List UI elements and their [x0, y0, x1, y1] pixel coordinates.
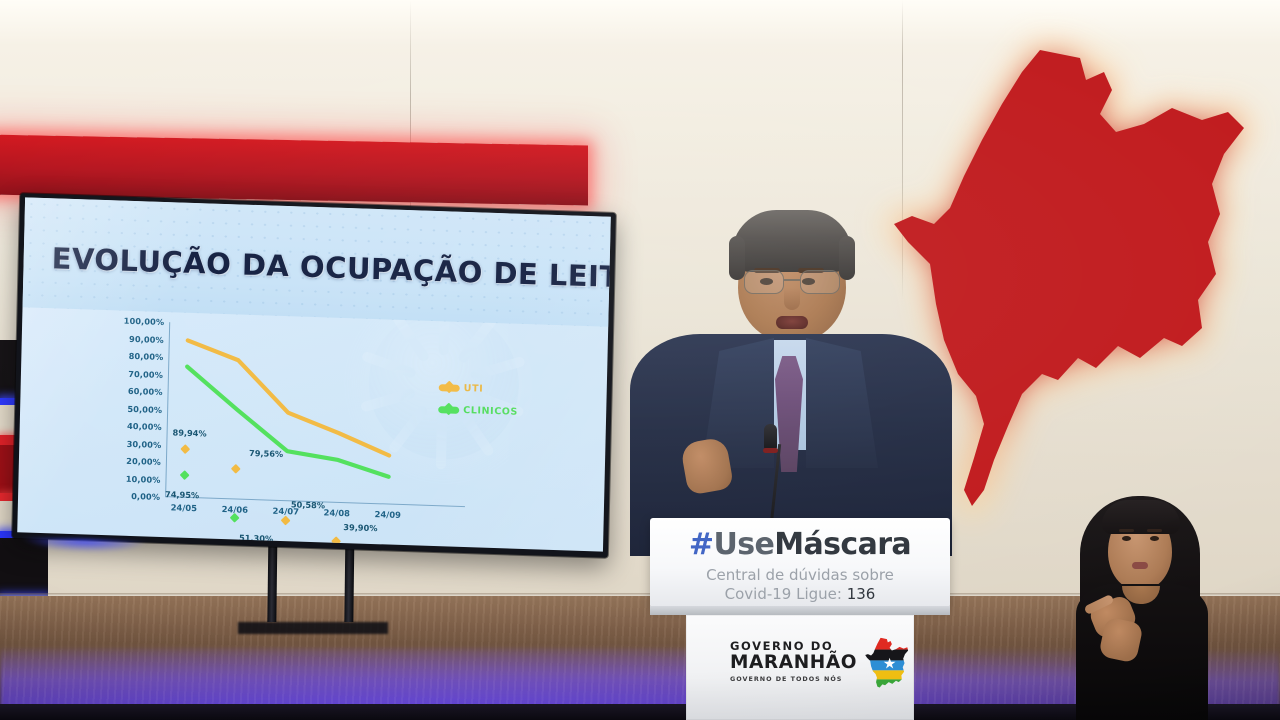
y-tick-label: 30,00%: [127, 438, 162, 449]
government-logo-text: GOVERNO DO MARANHÃO GOVERNO DE TODOS NÓS: [730, 641, 857, 683]
hashtag-word-use: Use: [713, 527, 774, 562]
logo-line-tagline: GOVERNO DE TODOS NÓS: [730, 675, 857, 683]
interpreter-hair-fringe: [1102, 500, 1180, 534]
podium-phone-number: 136: [847, 585, 876, 603]
podium-body: GOVERNO DO MARANHÃO GOVERNO DE TODOS NÓS: [686, 615, 914, 720]
podium-edge: [650, 606, 950, 615]
speaker-mouth: [776, 316, 808, 329]
glasses-lens: [800, 270, 840, 294]
legend-item-uti: UTI: [439, 382, 519, 396]
podium-hashtag: #UseMáscara: [650, 527, 950, 562]
series-line-clinicos: [185, 367, 391, 477]
tv-stand-base: [238, 622, 388, 634]
speaker-hair: [732, 210, 852, 272]
data-point-label: 79,56%: [249, 448, 283, 459]
y-tick-label: 70,00%: [128, 368, 163, 379]
occupancy-line-chart: 100,00%90,00%80,00%70,00%60,00%50,00%40,…: [17, 305, 608, 551]
legend-item-clinicos: CLINICOS: [438, 404, 518, 418]
logo-line-maranhao: MARANHÃO: [730, 653, 857, 672]
presentation-display: EVOLUÇÃO DA OCUPAÇÃO DE LEITOS 100,00%90…: [12, 193, 616, 558]
interpreter-eyebrow: [1119, 529, 1134, 532]
y-tick-label: 60,00%: [128, 386, 163, 397]
y-tick-label: 80,00%: [129, 351, 164, 362]
interpreter-eye: [1150, 536, 1159, 541]
chart-y-tick-labels: 100,00%90,00%80,00%70,00%60,00%50,00%40,…: [80, 319, 164, 497]
logo-line-governo-do: GOVERNO DO: [730, 641, 857, 653]
interpreter-eye: [1122, 536, 1131, 541]
legend-marker-uti-icon: [439, 384, 460, 392]
y-tick-label: 0,00%: [131, 491, 160, 502]
y-tick-label: 10,00%: [126, 473, 161, 484]
interpreter-eyebrow: [1147, 529, 1162, 532]
podium-subtitle-line2: Covid-19 Ligue: 136: [650, 585, 950, 603]
y-tick-label: 100,00%: [124, 316, 165, 327]
series-line-uti: [185, 340, 391, 455]
x-tick-label: 24/05: [171, 502, 198, 513]
legend-label-clinicos: CLINICOS: [463, 405, 518, 418]
microphone-icon: [764, 424, 777, 450]
data-point-label: 50,58%: [291, 500, 325, 511]
hashtag-word-mascara: Máscara: [774, 527, 911, 562]
microphone-ring: [763, 448, 778, 453]
y-tick-label: 90,00%: [129, 333, 164, 344]
speaker-nose: [784, 288, 800, 310]
sign-language-interpreter: [1046, 492, 1236, 720]
speaker-governor: [614, 196, 964, 556]
data-point-marker: [332, 536, 341, 545]
podium-subtitle-line1: Central de dúvidas sobre: [650, 566, 950, 584]
x-tick-label: 24/09: [374, 509, 401, 520]
legend-label-uti: UTI: [464, 383, 484, 395]
data-point-label: 74,95%: [165, 489, 199, 500]
y-tick-label: 50,00%: [127, 403, 162, 414]
data-point-label: 51,30%: [239, 533, 273, 544]
data-point-label: 89,94%: [172, 427, 206, 438]
government-logo: GOVERNO DO MARANHÃO GOVERNO DE TODOS NÓS: [730, 629, 890, 695]
interpreter-mouth: [1132, 562, 1148, 569]
broadcast-frame: EVOLUÇÃO DA OCUPAÇÃO DE LEITOS 100,00%90…: [0, 0, 1280, 720]
data-point-label: 39,90%: [343, 522, 377, 533]
glasses-lens: [744, 270, 784, 294]
hash-symbol: #: [689, 527, 714, 562]
chart-plot-area: [166, 322, 420, 505]
podium: #UseMáscara Central de dúvidas sobre Cov…: [650, 518, 950, 720]
podium-phone-prefix: Covid-19 Ligue:: [725, 585, 847, 603]
slide-screen: EVOLUÇÃO DA OCUPAÇÃO DE LEITOS 100,00%90…: [17, 197, 611, 551]
podium-banner-panel: #UseMáscara Central de dúvidas sobre Cov…: [650, 518, 950, 608]
glasses-bridge: [784, 279, 800, 281]
data-point-marker: [281, 516, 290, 525]
maranhao-flag-map-icon: [863, 636, 909, 688]
x-tick-label: 24/08: [323, 507, 350, 518]
y-tick-label: 20,00%: [126, 456, 161, 467]
y-tick-label: 40,00%: [127, 421, 162, 432]
chart-legend: UTI CLINICOS: [438, 382, 519, 429]
legend-marker-clinicos-icon: [438, 406, 459, 414]
